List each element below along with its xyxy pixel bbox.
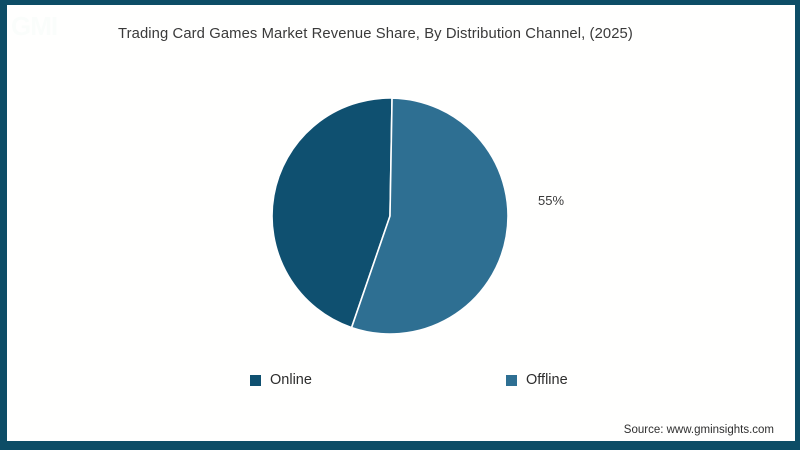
legend-swatch-offline-icon [506, 375, 517, 386]
chart-legend: Online Offline [7, 367, 795, 395]
data-label-offline: 55% [538, 193, 564, 208]
pie-slice-group [272, 98, 508, 334]
chart-figure: GMI Trading Card Games Market Revenue Sh… [0, 0, 800, 450]
legend-item-offline[interactable]: Offline [506, 369, 568, 391]
legend-swatch-online-icon [250, 375, 261, 386]
legend-label-online: Online [270, 372, 312, 388]
legend-item-online[interactable]: Online [250, 369, 312, 391]
chart-canvas: GMI Trading Card Games Market Revenue Sh… [7, 5, 795, 441]
source-attribution: Source: www.gminsights.com [624, 424, 774, 436]
legend-label-offline: Offline [526, 372, 568, 388]
